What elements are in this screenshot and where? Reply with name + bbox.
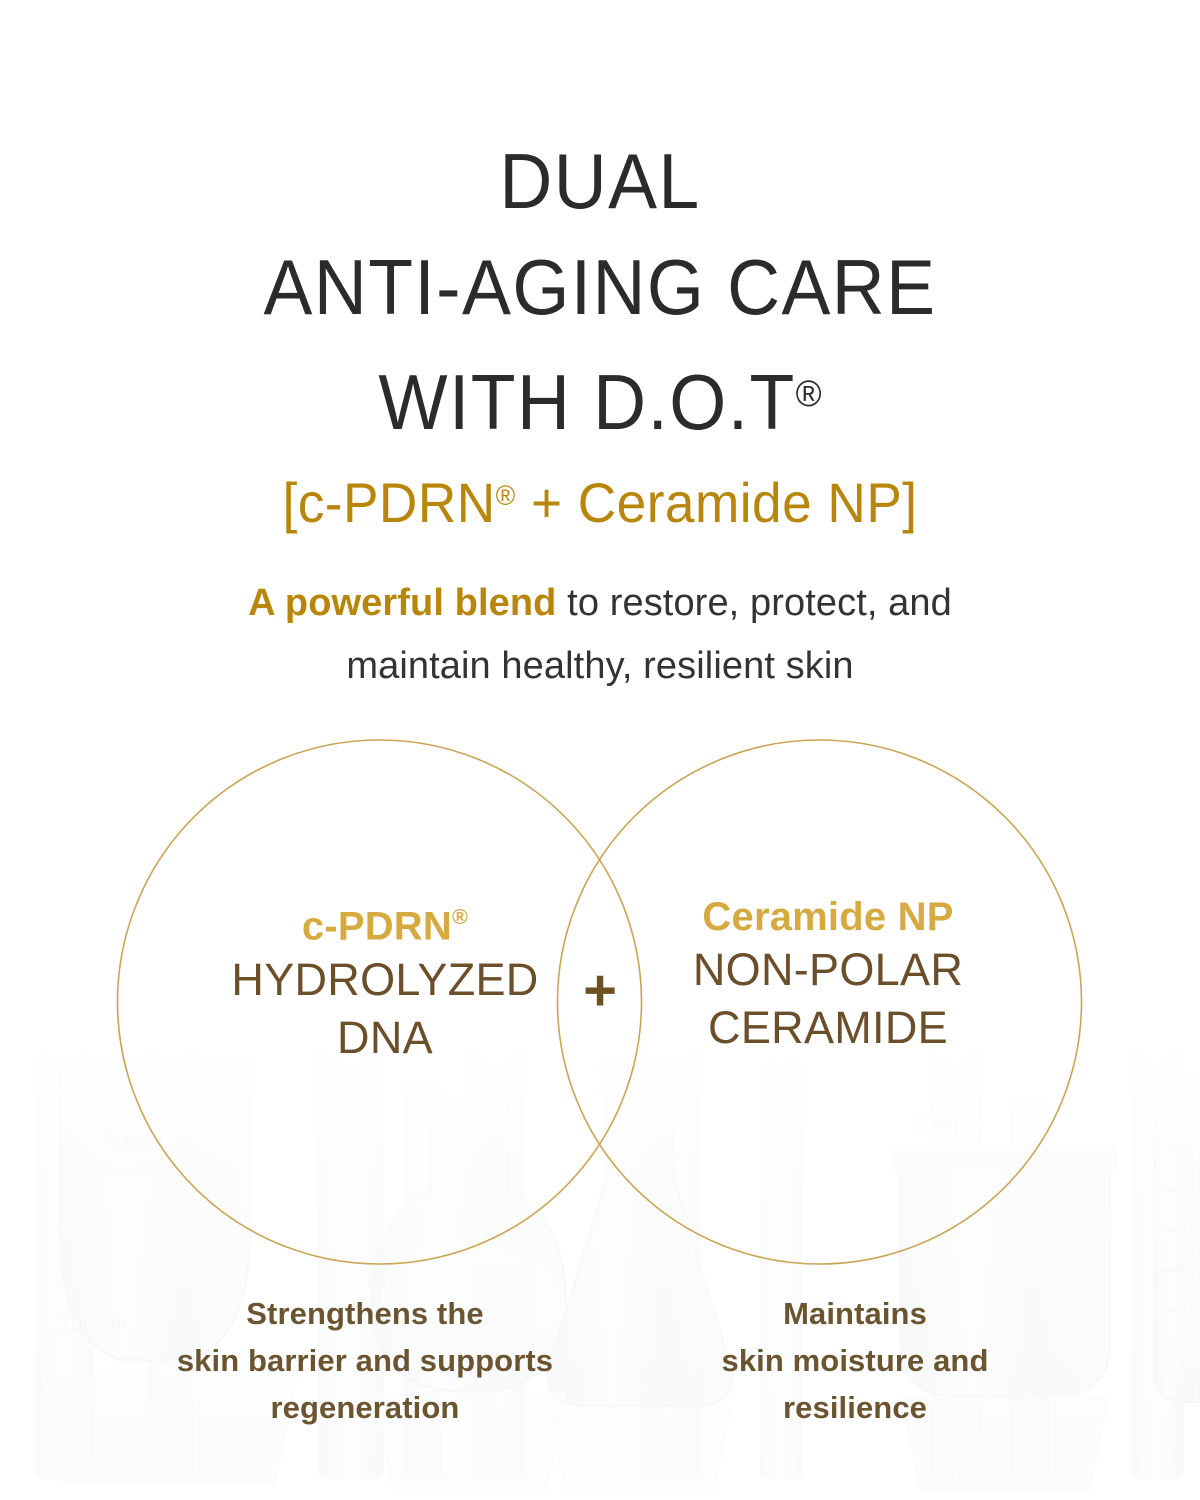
venn-right-description-line-1: NON-POLAR <box>628 941 1028 999</box>
venn-left-labels: c-PDRN® HYDROLYZED DNA <box>185 893 585 1067</box>
venn-right-ingredient: Ceramide NP <box>628 893 1028 941</box>
benefit-caption-left: Strengthens the skin barrier and support… <box>125 1290 605 1431</box>
venn-left-description-line-1: HYDROLYZED <box>185 951 585 1009</box>
benefit-caption-right-line-2: skin moisture and <box>645 1337 1065 1384</box>
venn-right-labels: Ceramide NP NON-POLAR CERAMIDE <box>628 893 1028 1057</box>
benefit-caption-right-line-1: Maintains <box>645 1290 1065 1337</box>
venn-left-description: HYDROLYZED DNA <box>185 951 585 1067</box>
benefit-caption-right: Maintains skin moisture and resilience <box>645 1290 1065 1431</box>
venn-diagram: c-PDRN® HYDROLYZED DNA + Ceramide NP NON… <box>0 0 1200 1500</box>
registered-trademark-icon: ® <box>452 904 468 929</box>
infographic-canvas: 500ml 50ml <box>0 0 1200 1500</box>
venn-left-ingredient: c-PDRN® <box>185 893 585 951</box>
venn-left-description-line-2: DNA <box>185 1009 585 1067</box>
benefit-caption-left-line-2: skin barrier and supports <box>125 1337 605 1384</box>
venn-right-description-line-2: CERAMIDE <box>628 999 1028 1057</box>
benefit-caption-left-line-3: regeneration <box>125 1384 605 1431</box>
benefit-caption-right-line-3: resilience <box>645 1384 1065 1431</box>
venn-right-description: NON-POLAR CERAMIDE <box>628 941 1028 1057</box>
venn-left-ingredient-text: c-PDRN <box>302 905 452 949</box>
benefit-caption-left-line-1: Strengthens the <box>125 1290 605 1337</box>
